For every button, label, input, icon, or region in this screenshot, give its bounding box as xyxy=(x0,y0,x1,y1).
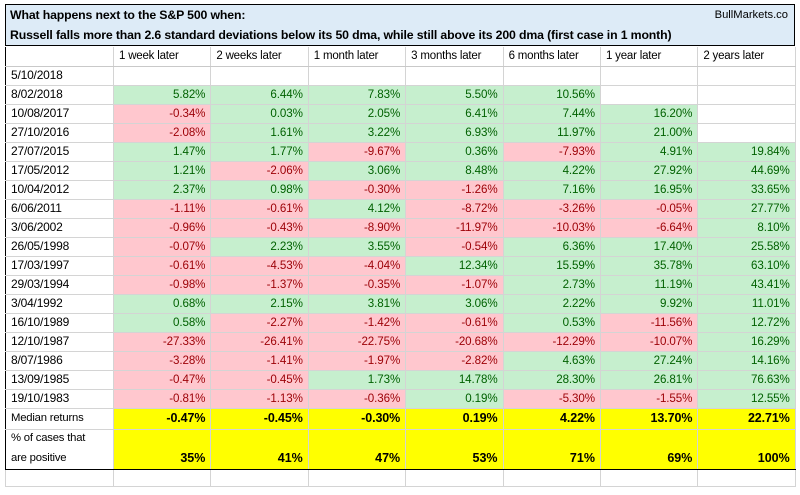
return-cell xyxy=(698,85,795,104)
results-table: 1 week later2 weeks later1 month later3 … xyxy=(5,47,796,487)
column-header-2: 2 weeks later xyxy=(211,47,308,66)
return-cell: 0.98% xyxy=(211,180,308,199)
return-cell: -8.90% xyxy=(308,218,405,237)
table-row: 27/10/2016-2.08%1.61%3.22%6.93%11.97%21.… xyxy=(6,123,796,142)
return-cell: 0.36% xyxy=(406,142,503,161)
brand-label: BullMarkets.co xyxy=(715,9,788,21)
return-cell: 15.59% xyxy=(503,256,600,275)
return-cell: 19.84% xyxy=(698,142,795,161)
return-cell: -1.11% xyxy=(114,199,211,218)
return-cell: 2.22% xyxy=(503,294,600,313)
return-cell xyxy=(698,123,795,142)
row-date-cell: 26/05/1998 xyxy=(6,237,114,256)
row-date-cell: 16/10/1989 xyxy=(6,313,114,332)
return-cell: -0.61% xyxy=(114,256,211,275)
return-cell: 2.37% xyxy=(114,180,211,199)
return-cell: 5.50% xyxy=(406,85,503,104)
return-cell: -0.61% xyxy=(211,199,308,218)
return-cell: 0.19% xyxy=(406,389,503,408)
pct-positive-value-cell: 100% xyxy=(698,448,795,469)
return-cell: -3.26% xyxy=(503,199,600,218)
return-cell: -7.93% xyxy=(503,142,600,161)
return-cell: 17.40% xyxy=(600,237,697,256)
return-cell: 10.56% xyxy=(503,85,600,104)
table-row: 16/10/19890.58%-2.27%-1.42%-0.61%0.53%-1… xyxy=(6,313,796,332)
return-cell: 14.16% xyxy=(698,351,795,370)
pct-positive-spacer-cell xyxy=(114,429,211,448)
return-cell: 6.93% xyxy=(406,123,503,142)
return-cell: 11.97% xyxy=(503,123,600,142)
return-cell: -0.36% xyxy=(308,389,405,408)
return-cell: -11.56% xyxy=(600,313,697,332)
table-row: 27/07/20151.47%1.77%-9.67%0.36%-7.93%4.9… xyxy=(6,142,796,161)
return-cell: -2.06% xyxy=(211,161,308,180)
return-cell: -1.07% xyxy=(406,275,503,294)
return-cell: 14.78% xyxy=(406,370,503,389)
pct-positive-row-bottom: are positive35%41%47%53%71%69%100% xyxy=(6,448,796,469)
return-cell: 5.82% xyxy=(114,85,211,104)
return-cell: -8.72% xyxy=(406,199,503,218)
row-date-cell: 10/08/2017 xyxy=(6,104,114,123)
row-date-cell: 10/04/2012 xyxy=(6,180,114,199)
return-cell: -0.07% xyxy=(114,237,211,256)
row-date-cell: 29/03/1994 xyxy=(6,275,114,294)
return-cell: 4.22% xyxy=(503,161,600,180)
pct-positive-label-line2: are positive xyxy=(6,448,114,469)
return-cell: -1.13% xyxy=(211,389,308,408)
return-cell xyxy=(698,104,795,123)
return-cell: -0.47% xyxy=(114,370,211,389)
return-cell: -11.97% xyxy=(406,218,503,237)
pct-positive-spacer-cell xyxy=(503,429,600,448)
pct-positive-value-cell: 47% xyxy=(308,448,405,469)
median-value-cell: 13.70% xyxy=(600,408,697,429)
table-row: 13/09/1985-0.47%-0.45%1.73%14.78%28.30%2… xyxy=(6,370,796,389)
return-cell: -2.27% xyxy=(211,313,308,332)
return-cell: 44.69% xyxy=(698,161,795,180)
median-value-cell: 22.71% xyxy=(698,408,795,429)
return-cell: 1.73% xyxy=(308,370,405,389)
return-cell: -20.68% xyxy=(406,332,503,351)
median-value-cell: -0.47% xyxy=(114,408,211,429)
return-cell: 3.81% xyxy=(308,294,405,313)
return-cell xyxy=(308,66,405,85)
return-cell: 2.73% xyxy=(503,275,600,294)
median-value-cell: -0.30% xyxy=(308,408,405,429)
return-cell: -0.98% xyxy=(114,275,211,294)
sheet-blank-row xyxy=(6,469,796,486)
return-cell xyxy=(503,66,600,85)
return-cell: -0.61% xyxy=(406,313,503,332)
return-cell: 27.92% xyxy=(600,161,697,180)
row-date-cell: 17/03/1997 xyxy=(6,256,114,275)
pct-positive-spacer-cell xyxy=(406,429,503,448)
return-cell: -4.04% xyxy=(308,256,405,275)
table-row: 17/03/1997-0.61%-4.53%-4.04%12.34%15.59%… xyxy=(6,256,796,275)
table-row: 8/07/1986-3.28%-1.41%-1.97%-2.82%4.63%27… xyxy=(6,351,796,370)
return-cell: -0.54% xyxy=(406,237,503,256)
return-cell: 6.41% xyxy=(406,104,503,123)
return-cell: -1.97% xyxy=(308,351,405,370)
return-cell: -0.05% xyxy=(600,199,697,218)
return-cell: -0.35% xyxy=(308,275,405,294)
return-cell: 28.30% xyxy=(503,370,600,389)
column-header-date xyxy=(6,47,114,66)
table-row: 6/06/2011-1.11%-0.61%4.12%-8.72%-3.26%-0… xyxy=(6,199,796,218)
return-cell: 12.55% xyxy=(698,389,795,408)
table-body: 1 week later2 weeks later1 month later3 … xyxy=(6,47,796,486)
return-cell: 11.19% xyxy=(600,275,697,294)
column-header-4: 3 months later xyxy=(406,47,503,66)
sheet-blank-cell xyxy=(114,469,211,486)
return-cell: -5.30% xyxy=(503,389,600,408)
title-text-secondary: Russell falls more than 2.6 standard dev… xyxy=(10,28,671,42)
return-cell: -1.55% xyxy=(600,389,697,408)
return-cell: 1.21% xyxy=(114,161,211,180)
pct-positive-value-cell: 69% xyxy=(600,448,697,469)
row-date-cell: 5/10/2018 xyxy=(6,66,114,85)
column-header-1: 1 week later xyxy=(114,47,211,66)
return-cell: 3.06% xyxy=(406,294,503,313)
return-cell: 12.34% xyxy=(406,256,503,275)
return-cell xyxy=(698,66,795,85)
return-cell: 3.06% xyxy=(308,161,405,180)
table-row: 19/10/1983-0.81%-1.13%-0.36%0.19%-5.30%-… xyxy=(6,389,796,408)
column-header-7: 2 years later xyxy=(698,47,795,66)
return-cell: 43.41% xyxy=(698,275,795,294)
return-cell: -9.67% xyxy=(308,142,405,161)
return-cell: 0.68% xyxy=(114,294,211,313)
return-cell: 4.91% xyxy=(600,142,697,161)
median-value-cell: 0.19% xyxy=(406,408,503,429)
table-row: 17/05/20121.21%-2.06%3.06%8.48%4.22%27.9… xyxy=(6,161,796,180)
median-returns-label: Median returns xyxy=(6,408,114,429)
table-header-row: 1 week later2 weeks later1 month later3 … xyxy=(6,47,796,66)
return-cell: 7.44% xyxy=(503,104,600,123)
title-line-1: What happens next to the S&P 500 when: B… xyxy=(6,5,794,25)
column-header-6: 1 year later xyxy=(600,47,697,66)
pct-positive-label-line1: % of cases that xyxy=(6,429,114,448)
return-cell: -10.07% xyxy=(600,332,697,351)
return-cell: 33.65% xyxy=(698,180,795,199)
return-cell: 2.23% xyxy=(211,237,308,256)
table-row: 29/03/1994-0.98%-1.37%-0.35%-1.07%2.73%1… xyxy=(6,275,796,294)
table-row: 10/04/20122.37%0.98%-0.30%-1.26%7.16%16.… xyxy=(6,180,796,199)
table-row: 5/10/2018 xyxy=(6,66,796,85)
table-row: 8/02/20185.82%6.44%7.83%5.50%10.56% xyxy=(6,85,796,104)
pct-positive-spacer-cell xyxy=(698,429,795,448)
return-cell: 7.83% xyxy=(308,85,405,104)
return-cell: 8.48% xyxy=(406,161,503,180)
return-cell: 0.58% xyxy=(114,313,211,332)
return-cell: 63.10% xyxy=(698,256,795,275)
return-cell: 0.53% xyxy=(503,313,600,332)
median-value-cell: -0.45% xyxy=(211,408,308,429)
pct-positive-spacer-cell xyxy=(211,429,308,448)
row-date-cell: 13/09/1985 xyxy=(6,370,114,389)
return-cell xyxy=(211,66,308,85)
return-cell: 4.12% xyxy=(308,199,405,218)
sheet-blank-cell xyxy=(698,469,795,486)
row-date-cell: 27/07/2015 xyxy=(6,142,114,161)
pct-positive-value-cell: 53% xyxy=(406,448,503,469)
return-cell: 7.16% xyxy=(503,180,600,199)
return-cell: 6.44% xyxy=(211,85,308,104)
return-cell: -10.03% xyxy=(503,218,600,237)
row-date-cell: 17/05/2012 xyxy=(6,161,114,180)
table-row: 26/05/1998-0.07%2.23%3.55%-0.54%6.36%17.… xyxy=(6,237,796,256)
return-cell: 2.15% xyxy=(211,294,308,313)
return-cell xyxy=(406,66,503,85)
return-cell xyxy=(600,66,697,85)
return-cell: -2.08% xyxy=(114,123,211,142)
return-cell: 1.47% xyxy=(114,142,211,161)
return-cell: -4.53% xyxy=(211,256,308,275)
row-date-cell: 8/07/1986 xyxy=(6,351,114,370)
return-cell: -0.81% xyxy=(114,389,211,408)
return-cell: 21.00% xyxy=(600,123,697,142)
sheet-blank-cell xyxy=(308,469,405,486)
return-cell: 35.78% xyxy=(600,256,697,275)
return-cell: 1.61% xyxy=(211,123,308,142)
row-date-cell: 3/04/1992 xyxy=(6,294,114,313)
pct-positive-spacer-cell xyxy=(600,429,697,448)
pct-positive-row-top: % of cases that xyxy=(6,429,796,448)
return-cell: 26.81% xyxy=(600,370,697,389)
return-cell: 12.72% xyxy=(698,313,795,332)
return-cell: 16.20% xyxy=(600,104,697,123)
return-cell: 16.95% xyxy=(600,180,697,199)
return-cell: -6.64% xyxy=(600,218,697,237)
row-date-cell: 6/06/2011 xyxy=(6,199,114,218)
return-cell: -3.28% xyxy=(114,351,211,370)
row-date-cell: 19/10/1983 xyxy=(6,389,114,408)
return-cell: 27.77% xyxy=(698,199,795,218)
spreadsheet-canvas: What happens next to the S&P 500 when: B… xyxy=(0,0,800,495)
return-cell: -1.26% xyxy=(406,180,503,199)
pct-positive-value-cell: 41% xyxy=(211,448,308,469)
return-cell: -1.37% xyxy=(211,275,308,294)
return-cell: -0.43% xyxy=(211,218,308,237)
sheet-blank-cell xyxy=(6,469,114,486)
return-cell: 1.77% xyxy=(211,142,308,161)
median-returns-row: Median returns-0.47%-0.45%-0.30%0.19%4.2… xyxy=(6,408,796,429)
row-date-cell: 8/02/2018 xyxy=(6,85,114,104)
return-cell: -1.41% xyxy=(211,351,308,370)
table-row: 3/06/2002-0.96%-0.43%-8.90%-11.97%-10.03… xyxy=(6,218,796,237)
return-cell: -12.29% xyxy=(503,332,600,351)
title-text-primary: What happens next to the S&P 500 when: xyxy=(10,8,245,22)
return-cell: 3.55% xyxy=(308,237,405,256)
return-cell: 76.63% xyxy=(698,370,795,389)
return-cell: 4.63% xyxy=(503,351,600,370)
return-cell xyxy=(600,85,697,104)
return-cell: 11.01% xyxy=(698,294,795,313)
return-cell xyxy=(114,66,211,85)
row-date-cell: 3/06/2002 xyxy=(6,218,114,237)
sheet-blank-cell xyxy=(600,469,697,486)
return-cell: -0.30% xyxy=(308,180,405,199)
return-cell: 16.29% xyxy=(698,332,795,351)
return-cell: 0.03% xyxy=(211,104,308,123)
column-header-3: 1 month later xyxy=(308,47,405,66)
return-cell: 2.05% xyxy=(308,104,405,123)
return-cell: -27.33% xyxy=(114,332,211,351)
return-cell: 8.10% xyxy=(698,218,795,237)
return-cell: 9.92% xyxy=(600,294,697,313)
title-line-2: Russell falls more than 2.6 standard dev… xyxy=(6,25,794,45)
return-cell: 6.36% xyxy=(503,237,600,256)
return-cell: 27.24% xyxy=(600,351,697,370)
sheet-blank-cell xyxy=(503,469,600,486)
row-date-cell: 12/10/1987 xyxy=(6,332,114,351)
sheet-blank-cell xyxy=(211,469,308,486)
return-cell: -22.75% xyxy=(308,332,405,351)
column-header-5: 6 months later xyxy=(503,47,600,66)
table-row: 10/08/2017-0.34%0.03%2.05%6.41%7.44%16.2… xyxy=(6,104,796,123)
return-cell: -0.34% xyxy=(114,104,211,123)
row-date-cell: 27/10/2016 xyxy=(6,123,114,142)
median-value-cell: 4.22% xyxy=(503,408,600,429)
pct-positive-value-cell: 35% xyxy=(114,448,211,469)
pct-positive-value-cell: 71% xyxy=(503,448,600,469)
title-block: What happens next to the S&P 500 when: B… xyxy=(5,4,795,46)
return-cell: -1.42% xyxy=(308,313,405,332)
pct-positive-spacer-cell xyxy=(308,429,405,448)
return-cell: 3.22% xyxy=(308,123,405,142)
return-cell: -26.41% xyxy=(211,332,308,351)
return-cell: -2.82% xyxy=(406,351,503,370)
return-cell: -0.96% xyxy=(114,218,211,237)
sheet-blank-cell xyxy=(406,469,503,486)
table-row: 3/04/19920.68%2.15%3.81%3.06%2.22%9.92%1… xyxy=(6,294,796,313)
return-cell: -0.45% xyxy=(211,370,308,389)
table-row: 12/10/1987-27.33%-26.41%-22.75%-20.68%-1… xyxy=(6,332,796,351)
return-cell: 25.58% xyxy=(698,237,795,256)
